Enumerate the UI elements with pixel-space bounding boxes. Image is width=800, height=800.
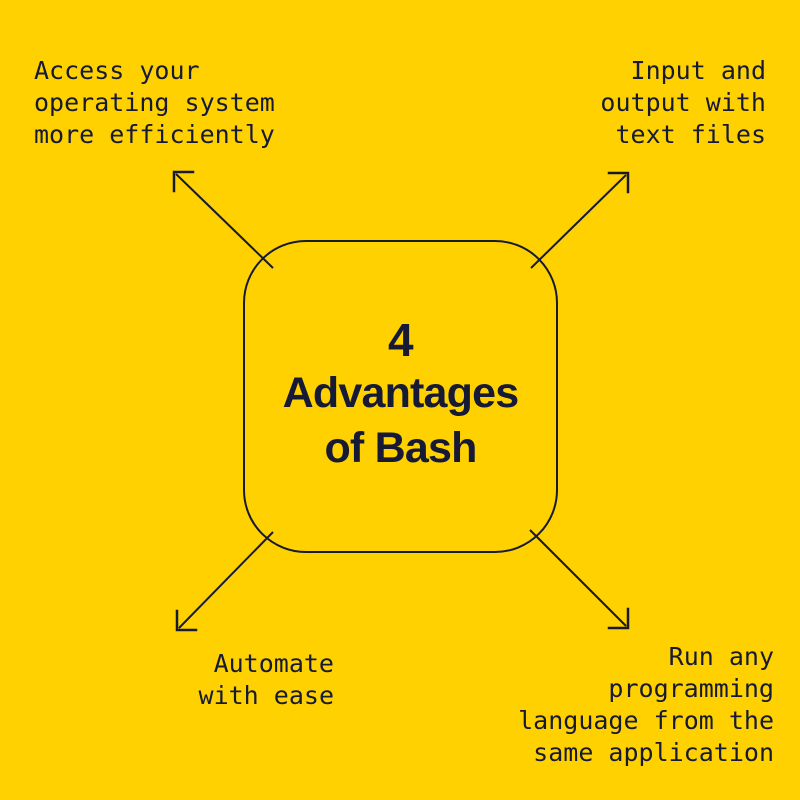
branch-label-bottom-right: Run any programming language from the sa… xyxy=(354,641,774,769)
center-node: 4 Advantages of Bash xyxy=(243,240,558,553)
branch-label-bottom-left: Automate with ease xyxy=(34,648,334,712)
bash-advantages-diagram: 4 Advantages of Bash Access your operati… xyxy=(0,0,800,800)
center-headline: Advantages of Bash xyxy=(283,366,519,476)
advantage-count: 4 xyxy=(388,314,413,366)
branch-label-top-left: Access your operating system more effici… xyxy=(34,55,334,151)
branch-label-top-right: Input and output with text files xyxy=(466,55,766,151)
